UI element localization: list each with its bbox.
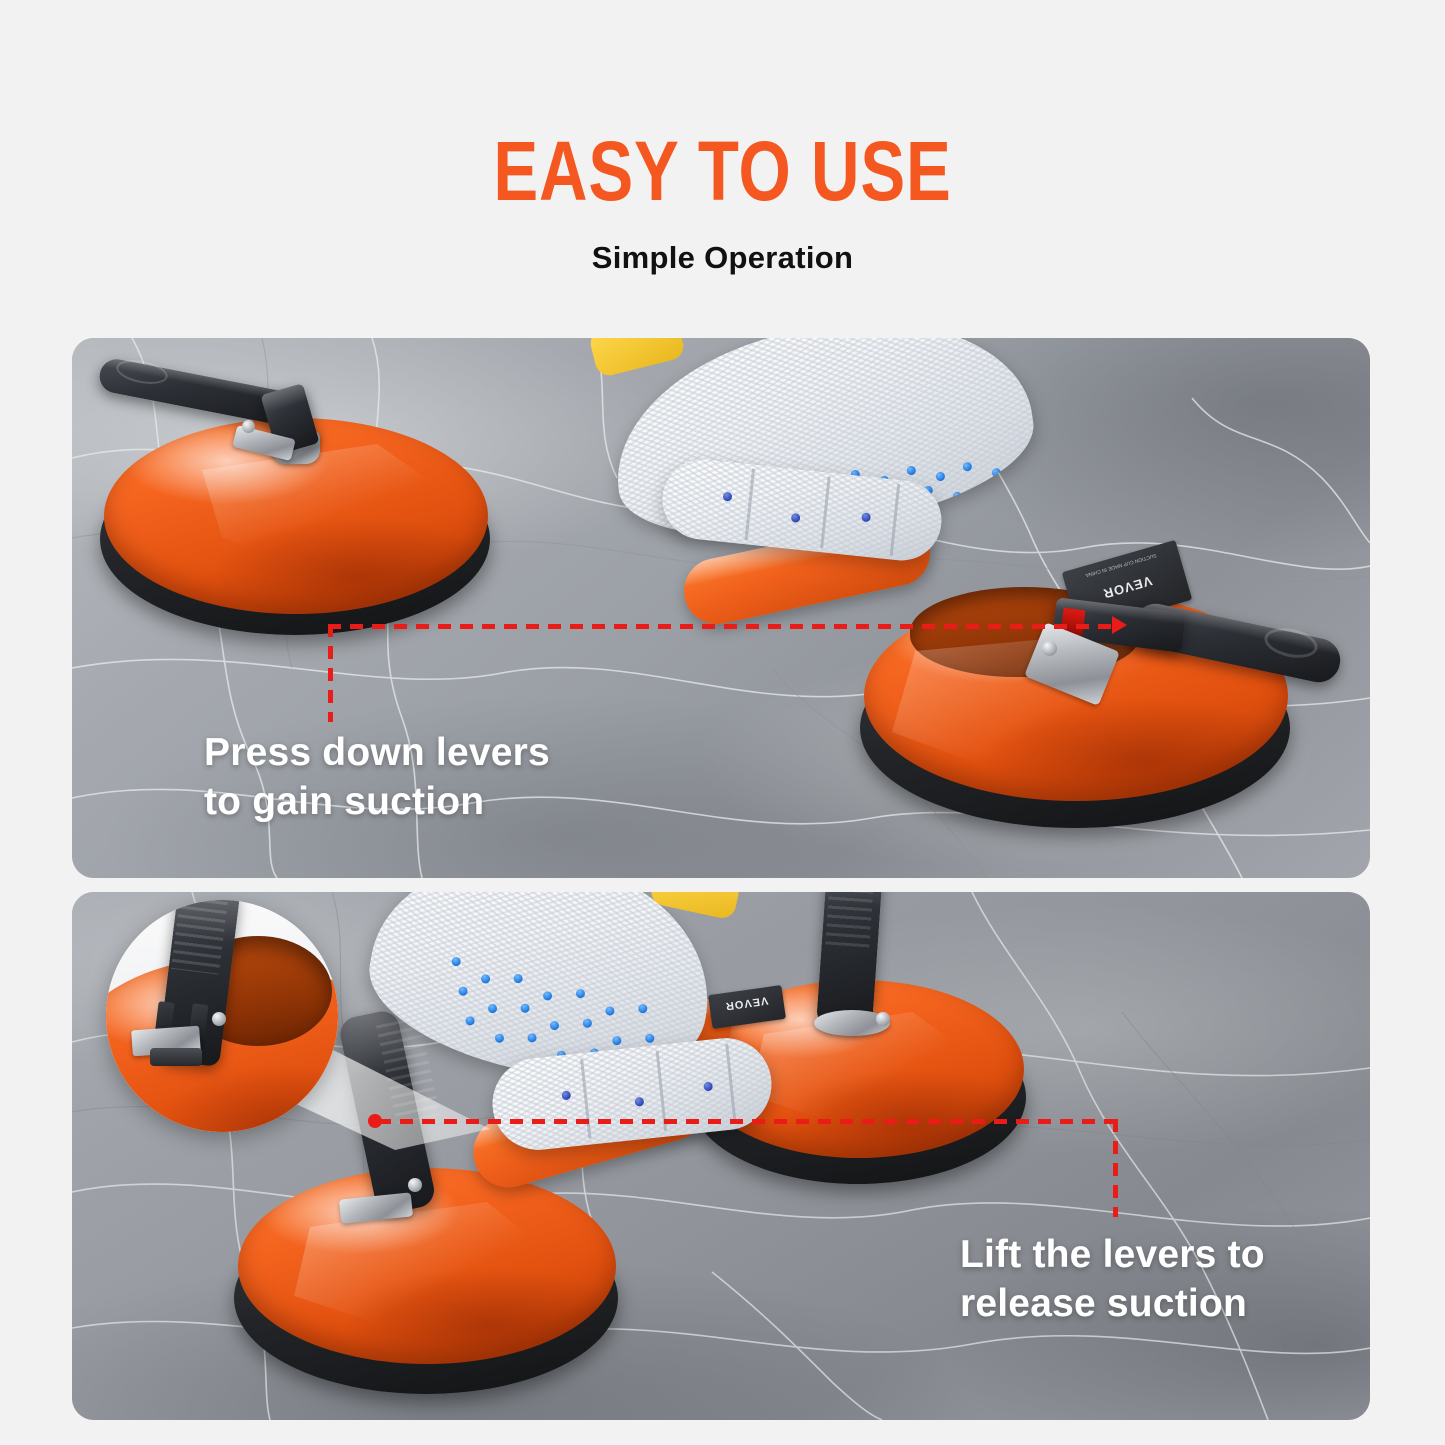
magnifier-content xyxy=(106,900,338,1132)
lever-rivet xyxy=(408,1178,422,1192)
callout-line-vertical xyxy=(328,624,333,722)
callout-line-horizontal xyxy=(378,1119,1118,1124)
callout-line-vertical xyxy=(1113,1119,1118,1217)
page-title: EASY TO USE xyxy=(145,128,1301,214)
panel-caption: Lift the levers to release suction xyxy=(960,1230,1265,1328)
panel-press-down: SUCTION CUP MADE IN CHINA VEVOR xyxy=(72,338,1370,878)
mag-lever-ribs xyxy=(171,900,229,975)
lever-rivet xyxy=(1042,641,1057,656)
lever-grip-ribs xyxy=(825,892,875,953)
panel-lift-levers: VEVOR xyxy=(72,892,1370,1420)
infographic-page: EASY TO USE Simple Operation xyxy=(0,0,1445,1445)
lever-rivet xyxy=(242,420,255,433)
callout-line-horizontal xyxy=(328,624,1118,629)
lever-rivet xyxy=(876,1012,890,1026)
mag-pad-gap xyxy=(150,1048,202,1066)
brand-name: VEVOR xyxy=(709,992,784,1014)
suction-cup-left xyxy=(82,348,542,658)
suction-cup-right: SUCTION CUP MADE IN CHINA VEVOR xyxy=(832,513,1370,843)
callout-arrow-head xyxy=(1112,616,1127,634)
magnifier-inset xyxy=(106,900,338,1132)
panel-caption: Press down levers to gain suction xyxy=(204,728,550,826)
mag-rivet xyxy=(212,1012,226,1026)
page-subtitle: Simple Operation xyxy=(0,240,1445,276)
header: EASY TO USE Simple Operation xyxy=(0,0,1445,276)
